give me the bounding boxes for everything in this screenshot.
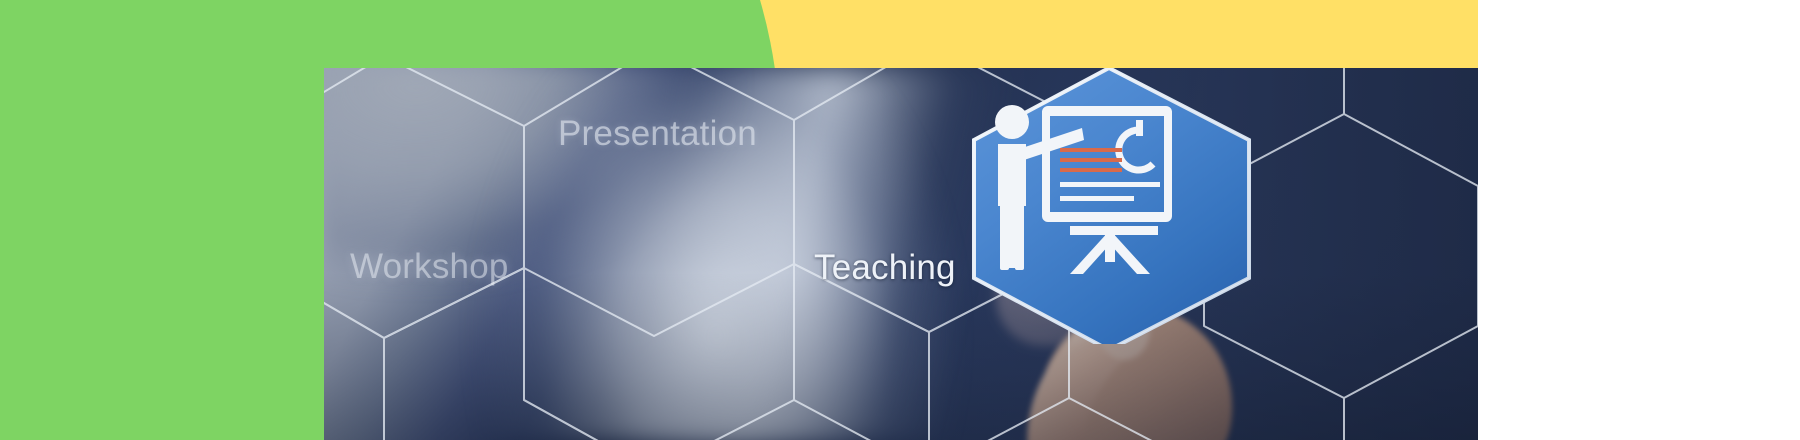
- hero-banner-stage: Presentation Workshop Teaching: [0, 0, 1800, 440]
- hex-label-teaching[interactable]: Teaching: [814, 248, 956, 288]
- teaching-hero-image: Presentation Workshop Teaching: [324, 68, 1478, 440]
- hex-label-workshop[interactable]: Workshop: [350, 247, 509, 287]
- pie-chart-pointer: [1136, 120, 1143, 136]
- active-hexagon-teaching[interactable]: [964, 68, 1264, 344]
- hex-label-presentation[interactable]: Presentation: [558, 114, 757, 154]
